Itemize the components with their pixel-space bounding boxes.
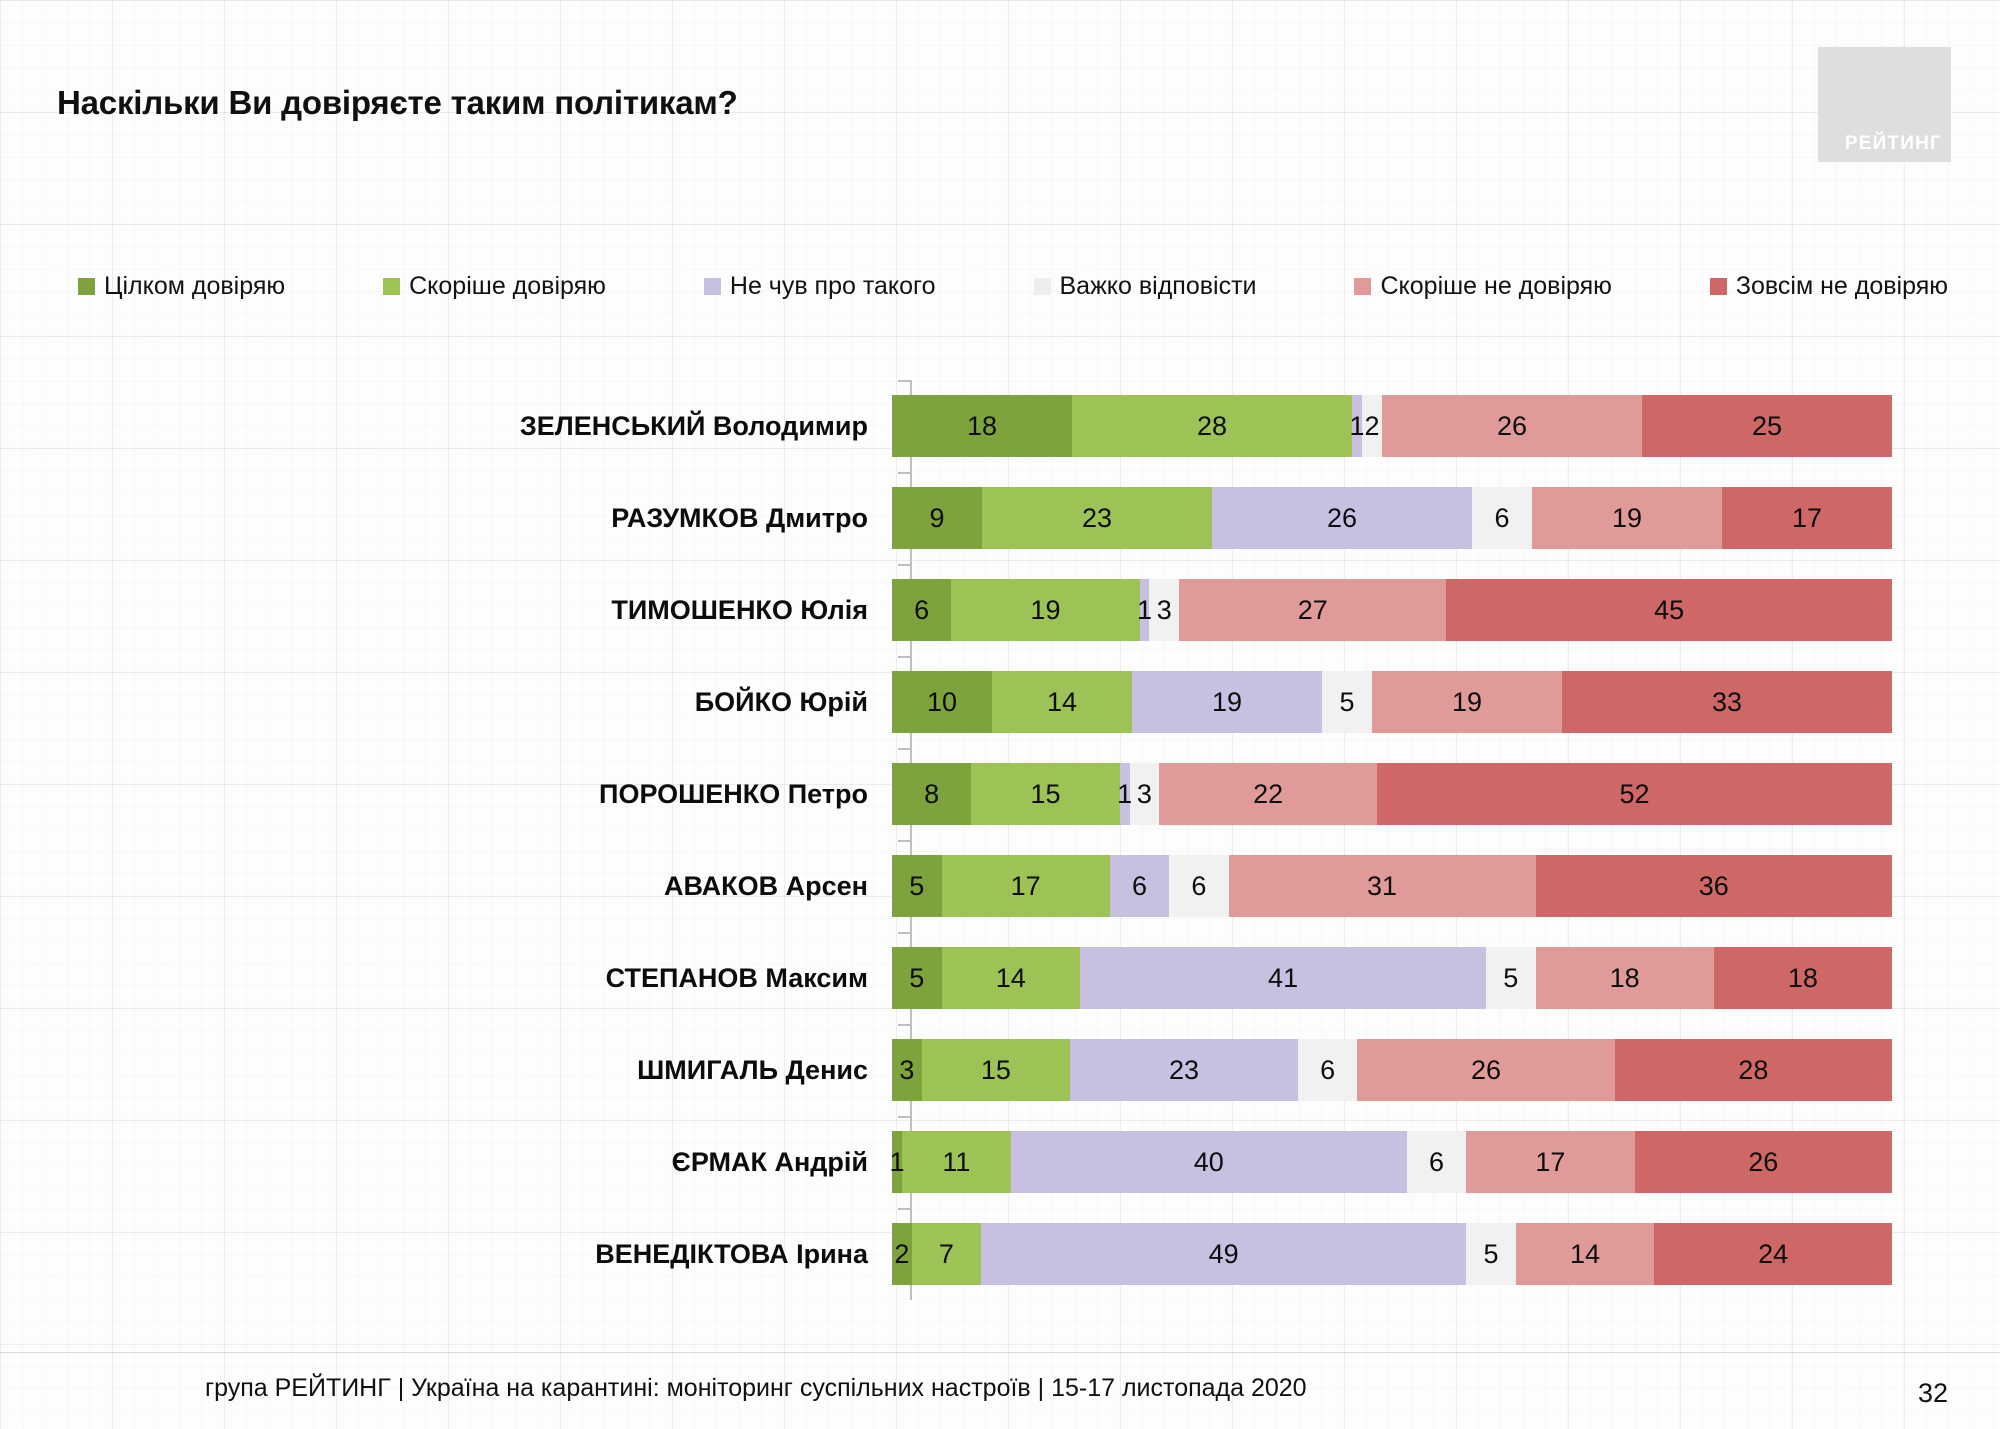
bar-segment-value: 6 [1132, 873, 1147, 900]
bar-segment-value: 14 [1047, 689, 1077, 716]
bar-segment: 19 [1372, 671, 1562, 733]
bar-segment-value: 22 [1253, 781, 1283, 808]
bar-segment: 18 [1714, 947, 1892, 1009]
bar-segment-value: 5 [1339, 689, 1354, 716]
bar-segment: 5 [1466, 1223, 1516, 1285]
chart-row: ЄРМАК Андрій1114061726 [0, 1116, 2000, 1208]
legend-item[interactable]: Важко відповісти [1034, 274, 1257, 299]
bar-segment: 2 [892, 1223, 912, 1285]
bar-segment-value: 2 [1364, 413, 1379, 440]
bar-segment: 18 [892, 395, 1072, 457]
bar-segment-value: 5 [1503, 965, 1518, 992]
bar-segment: 22 [1159, 763, 1377, 825]
bar-segment: 10 [892, 671, 992, 733]
bar-segment: 33 [1562, 671, 1892, 733]
bar-segment: 17 [942, 855, 1110, 917]
bar-segment: 17 [1722, 487, 1892, 549]
legend-item[interactable]: Зовсім не довіряю [1710, 274, 1948, 299]
footer-divider [0, 1352, 2000, 1353]
bar-segment-value: 5 [909, 873, 924, 900]
bar-segment-value: 3 [1157, 597, 1172, 624]
bar-segment: 49 [981, 1223, 1466, 1285]
legend-swatch-icon [1710, 278, 1727, 295]
bar-segment: 15 [971, 763, 1120, 825]
legend-swatch-icon [78, 278, 95, 295]
bar-segment-value: 2 [894, 1241, 909, 1268]
category-label: ВЕНЕДІКТОВА Ірина [0, 1241, 890, 1268]
legend-item-label: Цілком довіряю [104, 274, 285, 299]
bar-segment-value: 49 [1209, 1241, 1239, 1268]
bar-segment: 5 [892, 947, 942, 1009]
bar-segment: 3 [1130, 763, 1160, 825]
bar-segment-value: 19 [1452, 689, 1482, 716]
bar-segment: 6 [1298, 1039, 1357, 1101]
bar-segment-value: 27 [1298, 597, 1328, 624]
bar-segment: 6 [1169, 855, 1228, 917]
legend-item-label: Зовсім не довіряю [1736, 274, 1948, 299]
bar-segment: 6 [1407, 1131, 1466, 1193]
bar-segment: 28 [1615, 1039, 1892, 1101]
bar-segment: 1 [1352, 395, 1362, 457]
bar-segment-value: 9 [929, 505, 944, 532]
bar-segment: 17 [1466, 1131, 1634, 1193]
category-label: СТЕПАНОВ Максим [0, 965, 890, 992]
bar-segment-value: 6 [1191, 873, 1206, 900]
bar-segment: 27 [1179, 579, 1446, 641]
chart-row: ШМИГАЛЬ Денис3152362628 [0, 1024, 2000, 1116]
bar-segment: 36 [1536, 855, 1892, 917]
legend-swatch-icon [704, 278, 721, 295]
bar-segment-value: 7 [939, 1241, 954, 1268]
bar-segment-value: 18 [967, 413, 997, 440]
category-label: ШМИГАЛЬ Денис [0, 1057, 890, 1084]
bar-segment-value: 5 [1483, 1241, 1498, 1268]
chart-row: РАЗУМКОВ Дмитро9232661917 [0, 472, 2000, 564]
bar-segment: 1 [892, 1131, 902, 1193]
bar-segment: 52 [1377, 763, 1892, 825]
bar-segment-value: 1 [1349, 413, 1364, 440]
stacked-bar: 3152362628 [892, 1039, 1892, 1101]
bar-segment-value: 10 [927, 689, 957, 716]
bar-segment: 19 [1132, 671, 1322, 733]
bar-segment-value: 5 [909, 965, 924, 992]
bar-segment: 28 [1072, 395, 1352, 457]
page-title: Наскільки Ви довіряєте таким політикам? [57, 84, 738, 122]
stacked-bar: 5144151818 [892, 947, 1892, 1009]
bar-segment: 19 [1532, 487, 1722, 549]
bar-segment-value: 3 [1137, 781, 1152, 808]
bar-segment: 23 [1070, 1039, 1298, 1101]
chart-area: ЗЕЛЕНСЬКИЙ Володимир1828122625РАЗУМКОВ Д… [0, 380, 2000, 1300]
bar-segment: 2 [1362, 395, 1382, 457]
bar-segment-value: 19 [1612, 505, 1642, 532]
bar-segment-value: 15 [1030, 781, 1060, 808]
category-label: БОЙКО Юрій [0, 689, 890, 716]
bar-segment: 19 [951, 579, 1139, 641]
chart-row: БОЙКО Юрій10141951933 [0, 656, 2000, 748]
bar-segment: 1 [1120, 763, 1130, 825]
bar-segment-value: 26 [1327, 505, 1357, 532]
bar-segment-value: 26 [1748, 1149, 1778, 1176]
bar-segment-value: 19 [1030, 597, 1060, 624]
bar-segment-value: 52 [1619, 781, 1649, 808]
bar-segment-value: 17 [1011, 873, 1041, 900]
stacked-bar: 10141951933 [892, 671, 1892, 733]
legend-item-label: Важко відповісти [1060, 274, 1257, 299]
footer-text: група РЕЙТИНГ | Україна на карантині: мо… [205, 1374, 1307, 1403]
rating-logo: РЕЙТИНГ [1818, 47, 1951, 162]
bar-segment: 7 [912, 1223, 981, 1285]
bar-segment-value: 6 [914, 597, 929, 624]
bar-segment: 26 [1635, 1131, 1892, 1193]
axis-tick [898, 1116, 912, 1118]
category-label: ЄРМАК Андрій [0, 1149, 890, 1176]
legend-swatch-icon [383, 278, 400, 295]
bar-segment-value: 8 [924, 781, 939, 808]
bar-segment-value: 17 [1535, 1149, 1565, 1176]
bar-segment: 6 [892, 579, 951, 641]
axis-tick [898, 656, 912, 658]
category-label: РАЗУМКОВ Дмитро [0, 505, 890, 532]
bar-segment-value: 19 [1212, 689, 1242, 716]
bar-segment: 31 [1229, 855, 1536, 917]
bar-segment: 8 [892, 763, 971, 825]
bar-segment: 11 [902, 1131, 1011, 1193]
category-label: ПОРОШЕНКО Петро [0, 781, 890, 808]
bar-segment: 26 [1382, 395, 1642, 457]
category-label: ТИМОШЕНКО Юлія [0, 597, 890, 624]
chart-row: ЗЕЛЕНСЬКИЙ Володимир1828122625 [0, 380, 2000, 472]
bar-segment-value: 28 [1738, 1057, 1768, 1084]
bar-segment-value: 24 [1758, 1241, 1788, 1268]
bar-segment-value: 14 [996, 965, 1026, 992]
legend-swatch-icon [1354, 278, 1371, 295]
bar-segment: 40 [1011, 1131, 1407, 1193]
page-number: 32 [1918, 1378, 1948, 1409]
slide: РЕЙТИНГ Наскільки Ви довіряєте таким пол… [0, 0, 2000, 1429]
rating-logo-text: РЕЙТИНГ [1845, 134, 1942, 153]
axis-tick [898, 840, 912, 842]
bar-segment-value: 6 [1320, 1057, 1335, 1084]
bar-segment-value: 26 [1471, 1057, 1501, 1084]
legend-item[interactable]: Скоріше не довіряю [1354, 274, 1611, 299]
bar-segment-value: 15 [981, 1057, 1011, 1084]
stacked-bar: 1828122625 [892, 395, 1892, 457]
bar-segment-value: 1 [1137, 597, 1152, 624]
bar-segment-value: 31 [1367, 873, 1397, 900]
legend-item[interactable]: Скоріше довіряю [383, 274, 606, 299]
bar-segment: 41 [1080, 947, 1486, 1009]
legend-item-label: Скоріше не довіряю [1380, 274, 1611, 299]
bar-segment-value: 41 [1268, 965, 1298, 992]
stacked-bar: 619132745 [892, 579, 1892, 641]
bar-segment-value: 40 [1194, 1149, 1224, 1176]
bar-segment: 15 [922, 1039, 1071, 1101]
bar-segment: 14 [1516, 1223, 1655, 1285]
stacked-bar: 274951424 [892, 1223, 1892, 1285]
bar-segment: 45 [1446, 579, 1892, 641]
bar-segment: 14 [942, 947, 1081, 1009]
bar-segment-value: 23 [1082, 505, 1112, 532]
bar-segment: 6 [1110, 855, 1169, 917]
bar-segment: 9 [892, 487, 982, 549]
legend-item[interactable]: Не чув про такого [704, 274, 936, 299]
bar-segment: 5 [1486, 947, 1536, 1009]
bar-segment: 1 [1140, 579, 1150, 641]
legend-item-label: Скоріше довіряю [409, 274, 606, 299]
bar-segment: 25 [1642, 395, 1892, 457]
axis-tick [898, 748, 912, 750]
bar-segment: 14 [992, 671, 1132, 733]
chart-rows: ЗЕЛЕНСЬКИЙ Володимир1828122625РАЗУМКОВ Д… [0, 380, 2000, 1300]
bar-segment-value: 18 [1788, 965, 1818, 992]
chart-legend: Цілком довіряюСкоріше довіряюНе чув про … [78, 274, 1948, 299]
bar-segment: 24 [1654, 1223, 1892, 1285]
category-label: АВАКОВ Арсен [0, 873, 890, 900]
bar-segment: 26 [1357, 1039, 1614, 1101]
chart-row: ТИМОШЕНКО Юлія619132745 [0, 564, 2000, 656]
stacked-bar: 1114061726 [892, 1131, 1892, 1193]
axis-tick [898, 380, 912, 382]
bar-segment-value: 17 [1792, 505, 1822, 532]
chart-row: АВАКОВ Арсен517663136 [0, 840, 2000, 932]
axis-tick [898, 472, 912, 474]
bar-segment: 18 [1536, 947, 1714, 1009]
bar-segment: 23 [982, 487, 1212, 549]
chart-row: ВЕНЕДІКТОВА Ірина274951424 [0, 1208, 2000, 1300]
bar-segment: 3 [892, 1039, 922, 1101]
bar-segment-value: 26 [1497, 413, 1527, 440]
bar-segment-value: 6 [1494, 505, 1509, 532]
axis-tick [898, 564, 912, 566]
bar-segment-value: 33 [1712, 689, 1742, 716]
bar-segment-value: 28 [1197, 413, 1227, 440]
stacked-bar: 815132252 [892, 763, 1892, 825]
axis-tick [898, 1208, 912, 1210]
bar-segment-value: 14 [1570, 1241, 1600, 1268]
axis-tick [898, 932, 912, 934]
bar-segment-value: 11 [942, 1149, 970, 1176]
bar-segment-value: 25 [1752, 413, 1782, 440]
legend-item[interactable]: Цілком довіряю [78, 274, 285, 299]
bar-segment-value: 3 [899, 1057, 914, 1084]
chart-row: ПОРОШЕНКО Петро815132252 [0, 748, 2000, 840]
stacked-bar: 517663136 [892, 855, 1892, 917]
bar-segment-value: 18 [1610, 965, 1640, 992]
bar-segment-value: 1 [889, 1149, 904, 1176]
axis-tick [898, 1024, 912, 1026]
bar-segment: 6 [1472, 487, 1532, 549]
category-label: ЗЕЛЕНСЬКИЙ Володимир [0, 413, 890, 440]
bar-segment-value: 6 [1429, 1149, 1444, 1176]
bar-segment: 3 [1149, 579, 1179, 641]
bar-segment-value: 45 [1654, 597, 1684, 624]
legend-swatch-icon [1034, 278, 1051, 295]
bar-segment: 5 [892, 855, 942, 917]
chart-row: СТЕПАНОВ Максим5144151818 [0, 932, 2000, 1024]
bar-segment-value: 23 [1169, 1057, 1199, 1084]
stacked-bar: 9232661917 [892, 487, 1892, 549]
bar-segment: 26 [1212, 487, 1472, 549]
bar-segment-value: 1 [1117, 781, 1132, 808]
bar-segment: 5 [1322, 671, 1372, 733]
bar-segment-value: 36 [1699, 873, 1729, 900]
legend-item-label: Не чув про такого [730, 274, 936, 299]
